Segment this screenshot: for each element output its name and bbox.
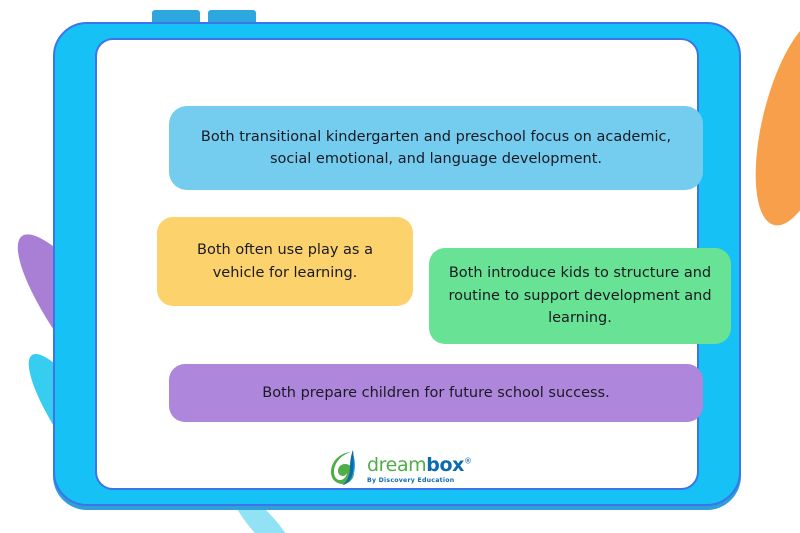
card-academic-focus-text: Both transitional kindergarten and presc… [187,126,685,171]
dreambox-word-box: box [426,454,464,476]
dreambox-tagline: By Discovery Education [367,477,472,484]
infographic-canvas: Both transitional kindergarten and presc… [0,0,800,533]
card-future-success-text: Both prepare children for future school … [262,382,609,404]
card-structure-routine: Both introduce kids to structure and rou… [429,248,731,344]
card-future-success: Both prepare children for future school … [169,364,703,422]
petal-orange-right-icon [738,7,800,234]
dreambox-mark-icon [329,450,363,490]
card-academic-focus: Both transitional kindergarten and presc… [169,106,703,190]
tablet-frame: Both transitional kindergarten and presc… [53,22,741,506]
tablet-screen: Both transitional kindergarten and presc… [95,38,699,490]
dreambox-wordmark: dreambox® [367,456,472,475]
dreambox-word-dream: dream [367,454,426,476]
card-structure-routine-text: Both introduce kids to structure and rou… [447,262,713,329]
dreambox-wordmark-group: dreambox® By Discovery Education [367,456,472,484]
dreambox-registered-mark: ® [464,457,472,466]
dreambox-logo: dreambox® By Discovery Education [329,449,469,491]
card-play-vehicle: Both often use play as a vehicle for lea… [157,217,413,306]
card-play-vehicle-text: Both often use play as a vehicle for lea… [175,239,395,284]
